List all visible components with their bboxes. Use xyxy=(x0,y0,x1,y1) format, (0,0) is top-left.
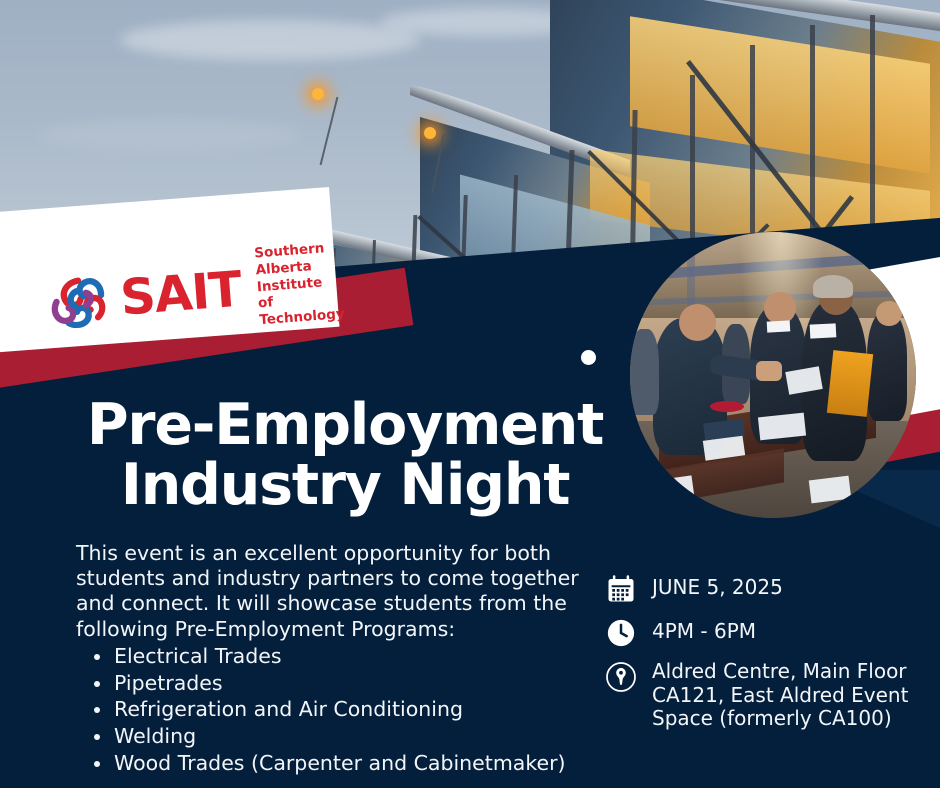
list-item: Wood Trades (Carpenter and Cabinetmaker) xyxy=(86,750,606,777)
title-line-2: Industry Night xyxy=(0,456,690,516)
photo-beanie xyxy=(813,275,853,298)
list-item: Pipetrades xyxy=(86,670,606,697)
event-description: This event is an excellent opportunity f… xyxy=(76,541,586,642)
photo-person-head xyxy=(764,292,795,323)
sait-wordmark: SAIT xyxy=(119,264,243,322)
photo-name-badge xyxy=(810,323,836,339)
sait-knot-icon xyxy=(49,272,111,330)
lamp-post xyxy=(320,97,339,165)
clock-icon xyxy=(604,616,638,650)
photo-name-badge xyxy=(767,320,790,333)
event-details: JUNE 5, 2025 4PM - 6PM Aldred Centre, Ma… xyxy=(604,572,924,741)
photo-person-head xyxy=(679,304,716,341)
list-item: Welding xyxy=(86,723,606,750)
photo-handshake xyxy=(756,361,782,381)
photo-folder xyxy=(827,350,873,417)
title-line-1: Pre-Employment xyxy=(0,396,690,456)
sait-tagline: Southern Alberta Institute of Technology xyxy=(254,238,353,329)
detail-row-time: 4PM - 6PM xyxy=(604,616,924,650)
detail-row-date: JUNE 5, 2025 xyxy=(604,572,924,606)
accent-dot xyxy=(581,350,596,365)
street-lamp xyxy=(312,88,324,100)
list-item: Refrigeration and Air Conditioning xyxy=(86,696,606,723)
list-item: Electrical Trades xyxy=(86,643,606,670)
location-pin-icon xyxy=(604,660,638,694)
calendar-icon xyxy=(604,572,638,606)
photo-person xyxy=(867,312,907,421)
photo-person-head xyxy=(876,301,902,327)
event-poster: SAIT Southern Alberta Institute of Techn… xyxy=(0,0,940,788)
event-date: JUNE 5, 2025 xyxy=(652,572,783,600)
street-lamp xyxy=(424,127,436,139)
page-title: Pre-Employment Industry Night xyxy=(0,396,690,516)
programs-list: Electrical Trades Pipetrades Refrigerati… xyxy=(86,643,606,776)
detail-row-location: Aldred Centre, Main Floor CA121, East Al… xyxy=(604,660,924,731)
event-location: Aldred Centre, Main Floor CA121, East Al… xyxy=(652,660,908,731)
photo-paper xyxy=(758,413,806,441)
photo-paper xyxy=(809,476,852,504)
event-time: 4PM - 6PM xyxy=(652,616,756,644)
